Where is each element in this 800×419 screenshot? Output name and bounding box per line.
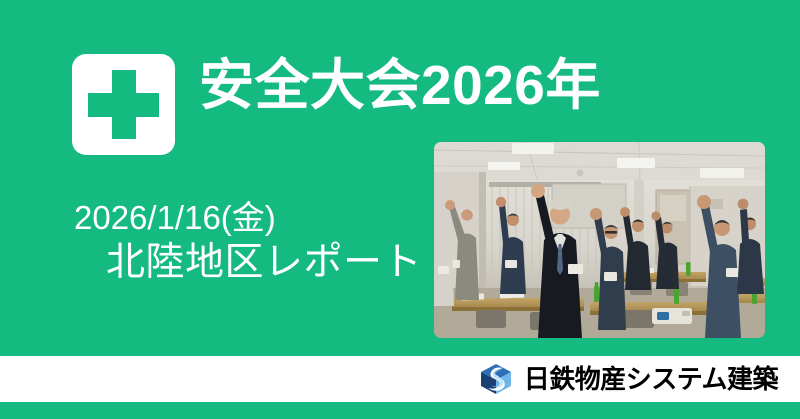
footer-band: 日鉄物産システム建築 <box>0 356 800 402</box>
first-aid-cross-icon <box>72 54 175 155</box>
event-photo <box>434 142 765 338</box>
event-photo-image <box>434 142 765 338</box>
company-logo-group: 日鉄物産システム建築 <box>479 363 778 395</box>
safety-conference-banner: 安全大会2026年 2026/1/16(金) 北陸地区レポート <box>0 0 800 419</box>
cube-s-logo-icon <box>479 363 513 395</box>
event-date: 2026/1/16(金) <box>74 198 276 238</box>
cross-horizontal-bar <box>88 93 159 117</box>
page-title: 安全大会2026年 <box>199 54 601 116</box>
report-subtitle: 北陸地区レポート <box>106 240 422 286</box>
company-name: 日鉄物産システム建築 <box>524 364 778 394</box>
